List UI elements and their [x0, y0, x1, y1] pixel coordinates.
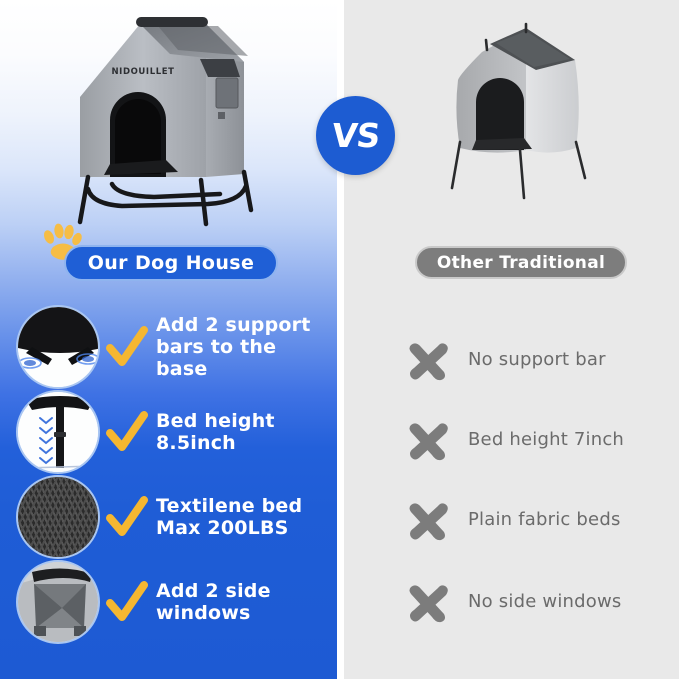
vs-badge-label: VS: [330, 116, 381, 155]
right-feature-label-2: Bed height 7inch: [468, 429, 624, 451]
textilene-mesh-thumb: [16, 475, 100, 559]
our-dog-house-pill-label: Our Dog House: [88, 252, 255, 274]
x-icon: [400, 578, 456, 626]
left-feature-row-3: Textilene bed Max 200LBS: [16, 475, 334, 559]
left-feature-row-4: Add 2 side windows: [16, 560, 334, 644]
left-feature-label-3: Textilene bed Max 200LBS: [156, 495, 334, 539]
bed-underside-support-bars-thumb: [16, 305, 100, 389]
x-icon: [400, 496, 456, 544]
left-feature-label-1: Add 2 support bars to the base: [156, 314, 334, 381]
other-traditional-pill-label: Other Traditional: [437, 253, 605, 273]
check-icon: [106, 322, 148, 372]
right-feature-label-4: No side windows: [468, 591, 621, 613]
left-feature-row-2: Bed height 8.5inch: [16, 390, 334, 474]
comparison-infographic: NIDOUILLET: [0, 0, 679, 679]
mesh-texture: [18, 477, 98, 557]
right-feature-row-3: Plain fabric beds: [400, 490, 675, 550]
our-dog-house-product-image: NIDOUILLET: [58, 14, 288, 229]
right-feature-row-1: No support bar: [400, 330, 675, 390]
other-traditional-product-image: [430, 22, 630, 207]
right-feature-label-1: No support bar: [468, 349, 606, 371]
other-traditional-pill: Other Traditional: [415, 246, 627, 279]
vs-badge: VS: [316, 96, 395, 175]
svg-text:NIDOUILLET: NIDOUILLET: [111, 67, 174, 77]
x-icon: [400, 416, 456, 464]
our-dog-house-pill: Our Dog House: [64, 245, 278, 281]
check-icon: [106, 492, 148, 542]
x-icon: [400, 336, 456, 384]
left-feature-label-4: Add 2 side windows: [156, 580, 334, 624]
right-feature-row-2: Bed height 7inch: [400, 410, 675, 470]
side-window-thumb: [16, 560, 100, 644]
right-feature-row-4: No side windows: [400, 572, 675, 632]
left-feature-row-1: Add 2 support bars to the base: [16, 305, 334, 389]
leg-height-measure-thumb: [16, 390, 100, 474]
check-icon: [106, 407, 148, 457]
left-feature-label-2: Bed height 8.5inch: [156, 410, 334, 454]
right-feature-label-3: Plain fabric beds: [468, 509, 621, 531]
check-icon: [106, 577, 148, 627]
